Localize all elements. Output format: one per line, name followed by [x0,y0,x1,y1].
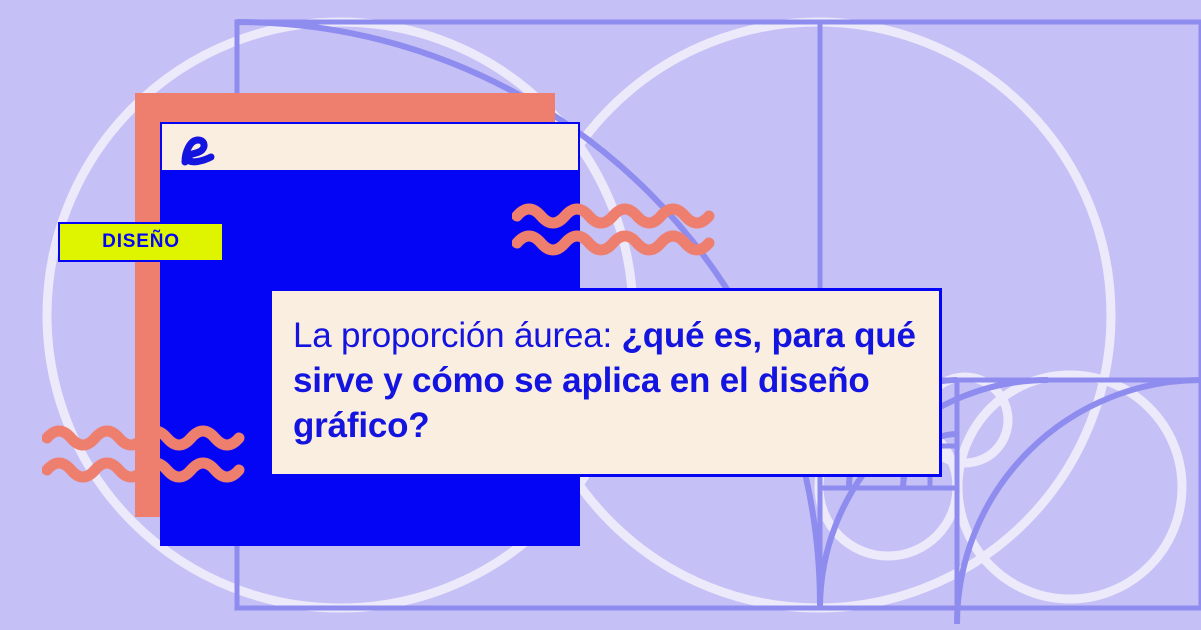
coral-wave-decoration-bottom [42,418,252,488]
page-title: La proporción áurea: ¿qué es, para qué s… [293,313,933,448]
panel-header-bar [160,122,580,172]
category-badge-diseno[interactable]: DISEÑO [58,222,224,262]
banner-canvas: DISEÑO La proporción áurea: ¿qué es, par… [0,0,1201,630]
spiral-logo-icon [176,130,216,168]
badge-label: DISEÑO [102,231,180,253]
title-card: La proporción áurea: ¿qué es, para qué s… [269,288,942,477]
coral-wave-decoration-top [512,198,722,258]
title-light-part: La proporción áurea: [293,316,622,355]
